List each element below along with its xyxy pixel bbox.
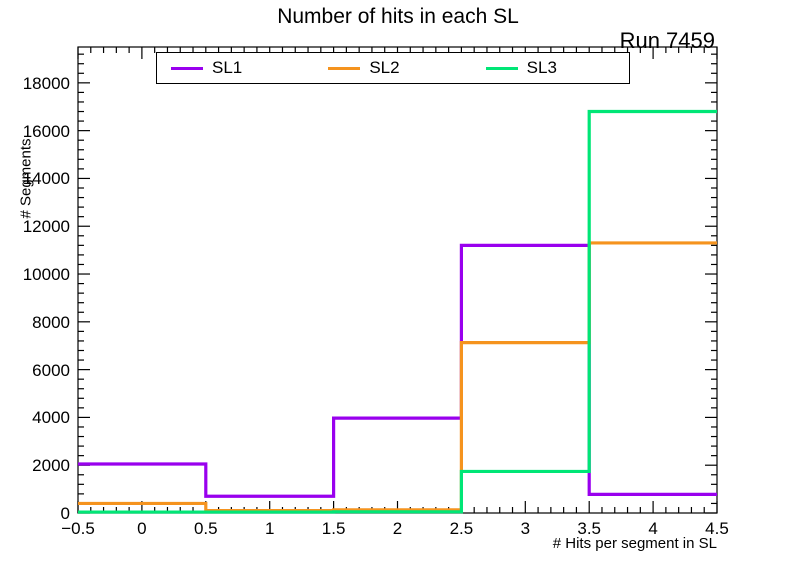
x-tick-label: 0 bbox=[112, 519, 172, 539]
plot-frame bbox=[78, 47, 717, 513]
y-tick-label: 10000 bbox=[0, 265, 70, 285]
legend-swatch-icon bbox=[486, 67, 518, 70]
legend-swatch-icon bbox=[171, 67, 203, 70]
legend-entry-sl2: SL2 bbox=[314, 58, 471, 78]
x-tick-label: −0.5 bbox=[48, 519, 108, 539]
x-tick-label: 4.5 bbox=[687, 519, 747, 539]
tick-marks bbox=[78, 47, 717, 513]
y-tick-label: 14000 bbox=[0, 169, 70, 189]
y-tick-label: 18000 bbox=[0, 74, 70, 94]
chart-canvas: Number of hits in each SL Run 7459 # Seg… bbox=[0, 0, 796, 572]
x-tick-label: 0.5 bbox=[176, 519, 236, 539]
x-tick-label: 1.5 bbox=[304, 519, 364, 539]
y-tick-label: 4000 bbox=[0, 408, 70, 428]
y-tick-label: 8000 bbox=[0, 313, 70, 333]
y-tick-label: 2000 bbox=[0, 456, 70, 476]
x-tick-label: 3.5 bbox=[559, 519, 619, 539]
x-tick-label: 2 bbox=[368, 519, 428, 539]
legend-entry-sl1: SL1 bbox=[157, 58, 314, 78]
series-line-sl2 bbox=[78, 243, 717, 511]
y-tick-label: 6000 bbox=[0, 361, 70, 381]
x-tick-label: 3 bbox=[495, 519, 555, 539]
series-line-sl1 bbox=[78, 245, 717, 496]
legend-label: SL3 bbox=[527, 58, 557, 78]
x-tick-label: 4 bbox=[623, 519, 683, 539]
legend-swatch-icon bbox=[328, 67, 360, 70]
x-tick-label: 2.5 bbox=[431, 519, 491, 539]
series-line-sl3 bbox=[78, 112, 717, 513]
legend-label: SL2 bbox=[369, 58, 399, 78]
legend-entry-sl3: SL3 bbox=[472, 58, 629, 78]
legend-label: SL1 bbox=[212, 58, 242, 78]
plot-area bbox=[0, 0, 796, 572]
y-tick-label: 16000 bbox=[0, 122, 70, 142]
legend: SL1SL2SL3 bbox=[156, 52, 630, 84]
x-tick-label: 1 bbox=[240, 519, 300, 539]
y-tick-label: 12000 bbox=[0, 217, 70, 237]
